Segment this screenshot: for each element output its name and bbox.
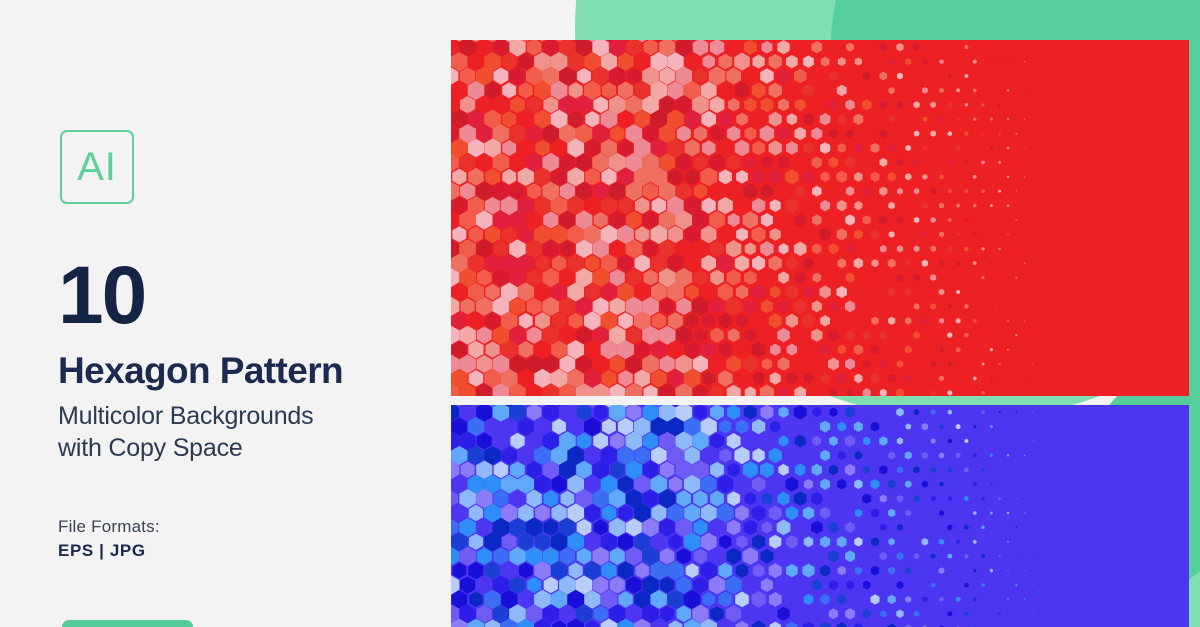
preview-red-hexagon-pattern[interactable]	[451, 40, 1189, 396]
ai-badge-label: AI	[77, 147, 117, 187]
page-subtitle-line-2: with Copy Space	[58, 432, 313, 464]
page-subtitle-line-1: Multicolor Backgrounds	[58, 400, 313, 432]
page-title: Hexagon Pattern	[58, 352, 343, 391]
info-column: AI 10 Hexagon Pattern Multicolor Backgro…	[0, 0, 452, 627]
cta-button[interactable]	[62, 620, 193, 627]
preview-blue-hexagon-pattern[interactable]	[451, 405, 1189, 627]
ai-file-format-icon: AI	[60, 130, 134, 204]
item-count: 10	[58, 258, 145, 333]
file-formats-value: EPS | JPG	[58, 541, 146, 561]
preview-canvas: AI 10 Hexagon Pattern Multicolor Backgro…	[0, 0, 1200, 627]
file-formats-label: File Formats:	[58, 517, 160, 537]
page-subtitle: Multicolor Backgrounds with Copy Space	[58, 400, 313, 464]
